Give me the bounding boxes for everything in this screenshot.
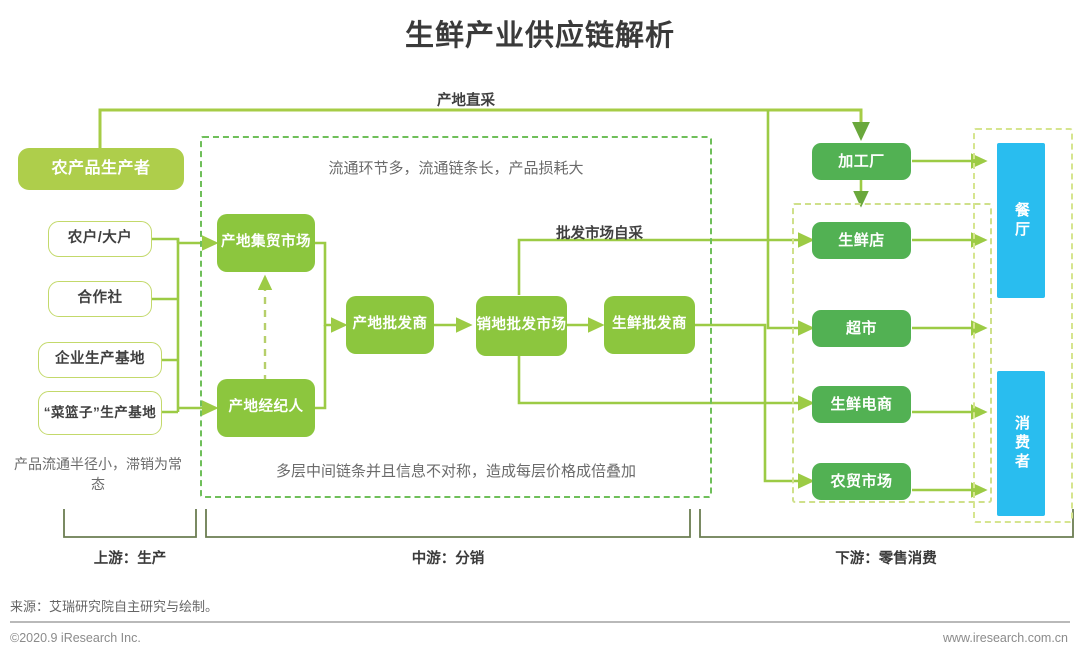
node-enterprise-base[interactable]: 企业生产基地 (38, 342, 162, 378)
node-processing-plant[interactable]: 加工厂 (812, 143, 911, 180)
copyright-note: ©2020.9 iResearch Inc. (10, 631, 141, 645)
node-origin-wholesaler[interactable]: 产地批发商 (346, 296, 434, 354)
footer-divider (10, 621, 1070, 623)
caption-midstream-top: 流通环节多，流通链条长，产品损耗大 (240, 158, 672, 180)
page-title: 生鲜产业供应链解析 (0, 12, 1080, 54)
node-farmers-market[interactable]: 农贸市场 (812, 463, 911, 500)
caption-midstream-bottom: 多层中间链条并且信息不对称，造成每层价格成倍叠加 (230, 461, 682, 483)
node-producer-header[interactable]: 农产品生产者 (18, 148, 184, 190)
stage-label-upstream: 上游：生产 (60, 547, 200, 568)
node-fresh-ecommerce[interactable]: 生鲜电商 (812, 386, 911, 423)
node-origin-broker[interactable]: 产地经纪人 (217, 379, 315, 437)
caption-upstream-note: 产品流通半径小，滞销为常态 (8, 454, 188, 495)
source-note: 来源：艾瑞研究院自主研究与绘制。 (10, 596, 218, 615)
node-vegetable-basket-base[interactable]: “菜篮子”生产基地 (38, 391, 162, 435)
website-url: www.iresearch.com.cn (943, 631, 1068, 645)
node-farmer[interactable]: 农户/大户 (48, 221, 152, 257)
diagram-canvas: 生鲜产业供应链解析 (0, 0, 1080, 659)
node-destination-wholesale-market[interactable]: 销地批发市场 (476, 296, 567, 356)
stage-label-midstream: 中游：分销 (378, 547, 518, 568)
label-wholesale-self-sourcing: 批发市场自采 (556, 222, 643, 243)
node-restaurant[interactable]: 餐厅 (997, 143, 1045, 298)
node-consumer[interactable]: 消费者 (997, 371, 1045, 516)
stage-label-downstream: 下游：零售消费 (806, 547, 966, 568)
node-fresh-store[interactable]: 生鲜店 (812, 222, 911, 259)
node-supermarket[interactable]: 超市 (812, 310, 911, 347)
node-fresh-wholesaler[interactable]: 生鲜批发商 (604, 296, 695, 354)
label-direct-sourcing: 产地直采 (437, 89, 495, 110)
node-cooperative[interactable]: 合作社 (48, 281, 152, 317)
node-origin-fair-market[interactable]: 产地集贸市场 (217, 214, 315, 272)
